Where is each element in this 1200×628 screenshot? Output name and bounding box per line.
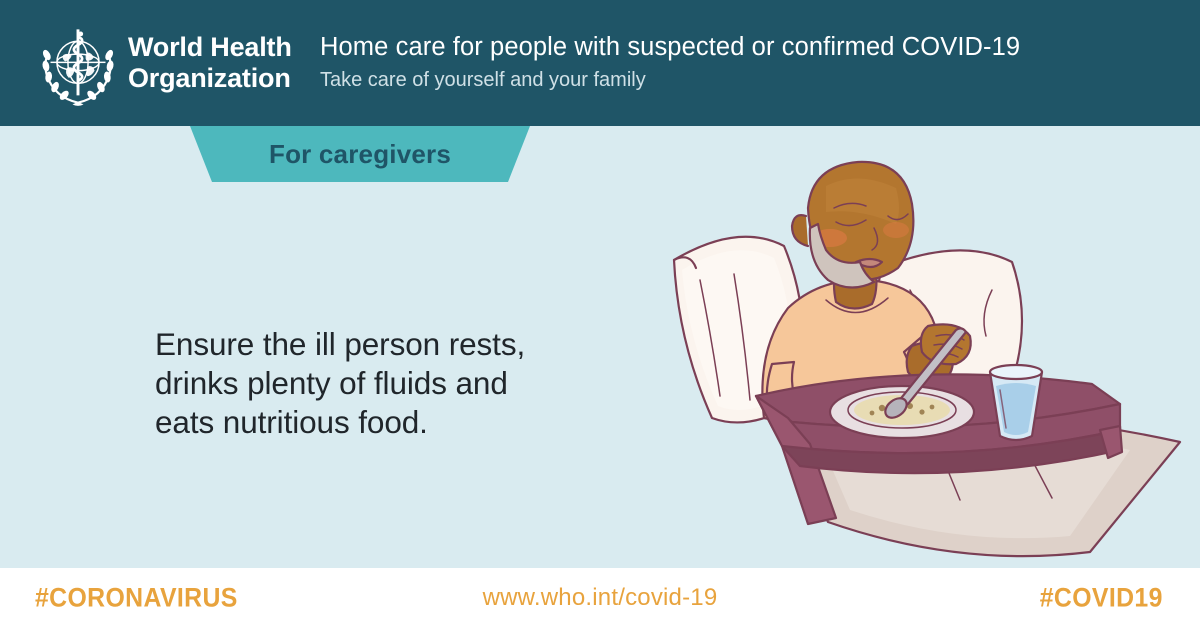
hashtag-coronavirus: #CORONAVIRUS xyxy=(35,583,238,614)
ill-person-eating-in-bed-illustration: .ol { stroke:#7b3f55; stroke-width:2.2; … xyxy=(660,150,1200,570)
message-line-2: drinks plenty of fluids and xyxy=(155,364,625,403)
water-glass-icon xyxy=(990,365,1042,440)
who-wordmark: World Health Organization xyxy=(128,32,292,94)
header-bar: World Health Organization Home care for … xyxy=(0,0,1200,126)
who-emblem-icon xyxy=(32,22,124,110)
banner-label: For caregivers xyxy=(190,126,530,182)
message-line-3: eats nutritious food. xyxy=(155,403,625,442)
who-wordmark-line2: Organization xyxy=(128,63,292,94)
for-caregivers-banner: For caregivers xyxy=(190,126,530,184)
page-subtitle: Take care of yourself and your family xyxy=(320,66,1020,94)
header-title-block: Home care for people with suspected or c… xyxy=(320,32,1020,94)
who-wordmark-line1: World Health xyxy=(128,32,292,62)
main-message: Ensure the ill person rests, drinks plen… xyxy=(155,325,625,442)
page-title: Home care for people with suspected or c… xyxy=(320,32,1020,63)
who-infographic-poster: World Health Organization Home care for … xyxy=(0,0,1200,628)
hashtag-covid19: #COVID19 xyxy=(1040,583,1163,614)
message-line-1: Ensure the ill person rests, xyxy=(155,325,625,364)
footer-bar: #CORONAVIRUS www.who.int/covid-19 #COVID… xyxy=(0,568,1200,628)
who-covid-url[interactable]: www.who.int/covid-19 xyxy=(483,584,718,612)
